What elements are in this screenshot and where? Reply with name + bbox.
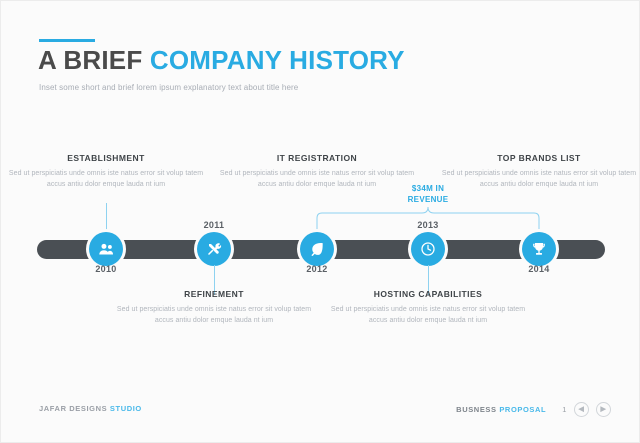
milestone-block-it-registration: IT REGISTRATION Sed ut perspiciatis unde… bbox=[219, 153, 415, 191]
trophy-icon bbox=[531, 241, 547, 257]
page-title: A BRIEF COMPANY HISTORY bbox=[38, 45, 405, 76]
footer-doc-accent: PROPOSAL bbox=[499, 405, 546, 414]
milestone-body: Sed ut perspiciatis unde omnis iste natu… bbox=[330, 304, 526, 327]
footer-doc-info: BUSNESS PROPOSAL 1 ◀ ▶ bbox=[456, 402, 611, 417]
title-accent-rule bbox=[39, 39, 95, 42]
milestone-block-top-brands-list: TOP BRANDS LIST Sed ut perspiciatis unde… bbox=[441, 153, 637, 191]
milestone-body: Sed ut perspiciatis unde omnis iste natu… bbox=[116, 304, 312, 327]
timeline-year-2012: 2012 bbox=[277, 264, 357, 274]
connector-line-2010 bbox=[106, 203, 107, 235]
footer-brand-name: JAFAR DESIGNS bbox=[39, 404, 110, 413]
chevron-right-icon: ▶ bbox=[601, 406, 607, 413]
timeline-marker-2014[interactable] bbox=[522, 232, 556, 266]
timeline-year-2013: 2013 bbox=[388, 220, 468, 230]
milestone-block-refinement: REFINEMENT Sed ut perspiciatis unde omni… bbox=[116, 289, 312, 327]
page-number: 1 bbox=[562, 405, 567, 414]
milestone-title: REFINEMENT bbox=[116, 289, 312, 299]
page-title-dark: A BRIEF bbox=[38, 45, 150, 75]
footer-brand: JAFAR DESIGNS STUDIO bbox=[39, 404, 142, 413]
milestone-body: Sed ut perspiciatis unde omnis iste natu… bbox=[8, 168, 204, 191]
timeline-year-2010: 2010 bbox=[66, 264, 146, 274]
tools-icon bbox=[206, 241, 222, 257]
slide-canvas: A BRIEF COMPANY HISTORY Inset some short… bbox=[0, 0, 640, 443]
timeline-marker-2010[interactable] bbox=[89, 232, 123, 266]
timeline-year-2014: 2014 bbox=[499, 264, 579, 274]
milestone-title: ESTABLISHMENT bbox=[8, 153, 204, 163]
milestone-title: HOSTING CAPABILITIES bbox=[330, 289, 526, 299]
revenue-callout-line2: REVENUE bbox=[368, 195, 488, 206]
milestone-title: TOP BRANDS LIST bbox=[441, 153, 637, 163]
timeline-marker-2011[interactable] bbox=[197, 232, 231, 266]
footer-doc-dim: BUSNESS bbox=[456, 405, 499, 414]
milestone-body: Sed ut perspiciatis unde omnis iste natu… bbox=[219, 168, 415, 191]
next-page-button[interactable]: ▶ bbox=[596, 402, 611, 417]
milestone-title: IT REGISTRATION bbox=[219, 153, 415, 163]
leaf-icon bbox=[309, 241, 325, 257]
clock-icon bbox=[420, 241, 436, 257]
footer-doc-title: BUSNESS PROPOSAL bbox=[456, 405, 546, 414]
milestone-body: Sed ut perspiciatis unde omnis iste natu… bbox=[441, 168, 637, 191]
chevron-left-icon: ◀ bbox=[579, 406, 585, 413]
timeline-marker-2012[interactable] bbox=[300, 232, 334, 266]
milestone-block-establishment: ESTABLISHMENT Sed ut perspiciatis unde o… bbox=[8, 153, 204, 191]
milestone-block-hosting-capabilities: HOSTING CAPABILITIES Sed ut perspiciatis… bbox=[330, 289, 526, 327]
footer-brand-accent: STUDIO bbox=[110, 404, 142, 413]
page-title-accent: COMPANY HISTORY bbox=[150, 45, 405, 75]
timeline-year-2011: 2011 bbox=[174, 220, 254, 230]
prev-page-button[interactable]: ◀ bbox=[574, 402, 589, 417]
page-subtitle: Inset some short and brief lorem ipsum e… bbox=[39, 83, 298, 92]
users-icon bbox=[98, 241, 115, 258]
timeline-marker-2013[interactable] bbox=[411, 232, 445, 266]
